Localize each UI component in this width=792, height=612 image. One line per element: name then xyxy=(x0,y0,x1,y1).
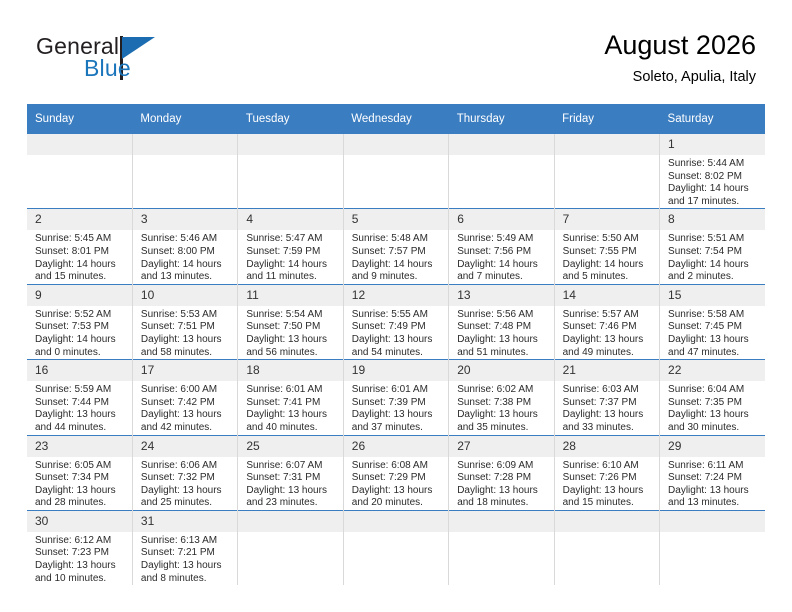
day-details: Sunrise: 5:57 AMSunset: 7:46 PMDaylight:… xyxy=(555,306,659,359)
day-details: Sunrise: 6:12 AMSunset: 7:23 PMDaylight:… xyxy=(27,532,132,585)
calendar-day-cell-empty xyxy=(238,510,343,585)
day-details: Sunrise: 5:47 AMSunset: 7:59 PMDaylight:… xyxy=(238,230,342,283)
day-number: 2 xyxy=(27,209,132,230)
day-number: 21 xyxy=(555,360,659,381)
day-detail-sunrise: Sunrise: 6:03 AM xyxy=(563,384,653,397)
day-detail-sunset: Sunset: 7:51 PM xyxy=(141,321,231,334)
day-detail-sunrise: Sunrise: 5:56 AM xyxy=(457,309,547,322)
day-detail-daylight-line1: Daylight: 13 hours xyxy=(141,485,231,498)
day-details xyxy=(133,155,237,208)
calendar-day-cell[interactable]: 26Sunrise: 6:08 AMSunset: 7:29 PMDayligh… xyxy=(343,435,448,510)
day-detail-sunrise: Sunrise: 5:50 AM xyxy=(563,233,653,246)
calendar-day-cell[interactable]: 8Sunrise: 5:51 AMSunset: 7:54 PMDaylight… xyxy=(660,209,765,284)
day-number: 20 xyxy=(449,360,553,381)
calendar-day-cell[interactable]: 6Sunrise: 5:49 AMSunset: 7:56 PMDaylight… xyxy=(449,209,554,284)
calendar-week-row: 30Sunrise: 6:12 AMSunset: 7:23 PMDayligh… xyxy=(27,510,765,585)
day-detail-sunrise: Sunrise: 5:58 AM xyxy=(668,309,759,322)
calendar-day-cell[interactable]: 4Sunrise: 5:47 AMSunset: 7:59 PMDaylight… xyxy=(238,209,343,284)
calendar-day-cell[interactable]: 28Sunrise: 6:10 AMSunset: 7:26 PMDayligh… xyxy=(554,435,659,510)
day-detail-sunrise: Sunrise: 6:07 AM xyxy=(246,460,336,473)
day-detail-daylight-line2: and 20 minutes. xyxy=(352,497,442,510)
calendar-day-cell[interactable]: 11Sunrise: 5:54 AMSunset: 7:50 PMDayligh… xyxy=(238,284,343,359)
calendar-day-cell[interactable]: 19Sunrise: 6:01 AMSunset: 7:39 PMDayligh… xyxy=(343,360,448,435)
calendar-week-row: 16Sunrise: 5:59 AMSunset: 7:44 PMDayligh… xyxy=(27,360,765,435)
day-number: 10 xyxy=(133,285,237,306)
day-detail-sunrise: Sunrise: 5:46 AM xyxy=(141,233,231,246)
day-number: 23 xyxy=(27,436,132,457)
weekday-header-row: Sunday Monday Tuesday Wednesday Thursday… xyxy=(27,104,765,134)
day-detail-daylight-line1: Daylight: 13 hours xyxy=(246,334,336,347)
day-detail-daylight-line1: Daylight: 14 hours xyxy=(352,259,442,272)
day-detail-daylight-line1: Daylight: 13 hours xyxy=(563,409,653,422)
calendar-day-cell[interactable]: 15Sunrise: 5:58 AMSunset: 7:45 PMDayligh… xyxy=(660,284,765,359)
day-detail-sunrise: Sunrise: 5:45 AM xyxy=(35,233,126,246)
day-detail-sunrise: Sunrise: 5:49 AM xyxy=(457,233,547,246)
day-detail-sunset: Sunset: 7:59 PM xyxy=(246,246,336,259)
day-details: Sunrise: 6:08 AMSunset: 7:29 PMDaylight:… xyxy=(344,457,448,510)
day-details xyxy=(27,155,132,208)
day-details: Sunrise: 6:03 AMSunset: 7:37 PMDaylight:… xyxy=(555,381,659,434)
day-number: 19 xyxy=(344,360,448,381)
day-detail-daylight-line2: and 49 minutes. xyxy=(563,347,653,360)
calendar-page: General Blue August 2026 Soleto, Apulia,… xyxy=(0,0,792,612)
day-detail-sunset: Sunset: 7:55 PM xyxy=(563,246,653,259)
day-detail-daylight-line1: Daylight: 13 hours xyxy=(457,334,547,347)
calendar-week-row: 23Sunrise: 6:05 AMSunset: 7:34 PMDayligh… xyxy=(27,435,765,510)
day-detail-sunrise: Sunrise: 5:54 AM xyxy=(246,309,336,322)
day-detail-sunrise: Sunrise: 6:01 AM xyxy=(352,384,442,397)
day-details: Sunrise: 5:55 AMSunset: 7:49 PMDaylight:… xyxy=(344,306,448,359)
day-detail-sunrise: Sunrise: 6:09 AM xyxy=(457,460,547,473)
calendar-day-cell[interactable]: 21Sunrise: 6:03 AMSunset: 7:37 PMDayligh… xyxy=(554,360,659,435)
day-detail-sunrise: Sunrise: 6:02 AM xyxy=(457,384,547,397)
day-number xyxy=(27,134,132,155)
calendar-day-cell[interactable]: 25Sunrise: 6:07 AMSunset: 7:31 PMDayligh… xyxy=(238,435,343,510)
day-detail-daylight-line1: Daylight: 14 hours xyxy=(246,259,336,272)
calendar-body: 1Sunrise: 5:44 AMSunset: 8:02 PMDaylight… xyxy=(27,134,765,585)
day-detail-daylight-line1: Daylight: 13 hours xyxy=(457,485,547,498)
calendar-day-cell[interactable]: 1Sunrise: 5:44 AMSunset: 8:02 PMDaylight… xyxy=(660,134,765,209)
day-detail-daylight-line1: Daylight: 13 hours xyxy=(35,485,126,498)
day-detail-sunrise: Sunrise: 5:48 AM xyxy=(352,233,442,246)
day-number: 13 xyxy=(449,285,553,306)
weekday-header-wednesday: Wednesday xyxy=(343,104,448,134)
weekday-header-saturday: Saturday xyxy=(660,104,765,134)
day-detail-sunset: Sunset: 7:56 PM xyxy=(457,246,547,259)
day-number xyxy=(449,511,553,532)
day-detail-daylight-line2: and 54 minutes. xyxy=(352,347,442,360)
day-detail-sunset: Sunset: 7:28 PM xyxy=(457,472,547,485)
day-detail-daylight-line2: and 8 minutes. xyxy=(141,573,231,586)
day-detail-daylight-line2: and 9 minutes. xyxy=(352,271,442,284)
day-number: 4 xyxy=(238,209,342,230)
day-details: Sunrise: 5:58 AMSunset: 7:45 PMDaylight:… xyxy=(660,306,765,359)
calendar-day-cell[interactable]: 27Sunrise: 6:09 AMSunset: 7:28 PMDayligh… xyxy=(449,435,554,510)
day-detail-sunrise: Sunrise: 6:10 AM xyxy=(563,460,653,473)
page-header: General Blue August 2026 Soleto, Apulia,… xyxy=(0,0,792,104)
calendar-day-cell[interactable]: 12Sunrise: 5:55 AMSunset: 7:49 PMDayligh… xyxy=(343,284,448,359)
day-detail-sunset: Sunset: 7:49 PM xyxy=(352,321,442,334)
day-detail-sunset: Sunset: 7:39 PM xyxy=(352,397,442,410)
day-detail-daylight-line1: Daylight: 13 hours xyxy=(668,485,759,498)
day-number xyxy=(238,134,342,155)
weekday-header-sunday: Sunday xyxy=(27,104,132,134)
day-detail-daylight-line1: Daylight: 14 hours xyxy=(35,259,126,272)
day-detail-sunset: Sunset: 7:42 PM xyxy=(141,397,231,410)
day-details: Sunrise: 5:44 AMSunset: 8:02 PMDaylight:… xyxy=(660,155,765,208)
day-detail-sunset: Sunset: 7:23 PM xyxy=(35,547,126,560)
day-detail-daylight-line2: and 17 minutes. xyxy=(668,196,759,209)
day-details: Sunrise: 6:09 AMSunset: 7:28 PMDaylight:… xyxy=(449,457,553,510)
day-detail-daylight-line1: Daylight: 14 hours xyxy=(563,259,653,272)
day-detail-sunset: Sunset: 7:34 PM xyxy=(35,472,126,485)
calendar-day-cell-empty xyxy=(132,134,237,209)
day-detail-sunset: Sunset: 7:53 PM xyxy=(35,321,126,334)
day-number: 17 xyxy=(133,360,237,381)
day-number xyxy=(238,511,342,532)
day-detail-daylight-line2: and 5 minutes. xyxy=(563,271,653,284)
day-detail-daylight-line2: and 51 minutes. xyxy=(457,347,547,360)
calendar-week-row: 1Sunrise: 5:44 AMSunset: 8:02 PMDaylight… xyxy=(27,134,765,209)
day-details: Sunrise: 5:53 AMSunset: 7:51 PMDaylight:… xyxy=(133,306,237,359)
day-details: Sunrise: 5:54 AMSunset: 7:50 PMDaylight:… xyxy=(238,306,342,359)
title-block: August 2026 Soleto, Apulia, Italy xyxy=(336,28,756,88)
day-detail-daylight-line2: and 23 minutes. xyxy=(246,497,336,510)
day-number: 6 xyxy=(449,209,553,230)
calendar-day-cell[interactable]: 17Sunrise: 6:00 AMSunset: 7:42 PMDayligh… xyxy=(132,360,237,435)
day-detail-sunrise: Sunrise: 6:11 AM xyxy=(668,460,759,473)
calendar-day-cell[interactable]: 3Sunrise: 5:46 AMSunset: 8:00 PMDaylight… xyxy=(132,209,237,284)
day-detail-daylight-line2: and 2 minutes. xyxy=(668,271,759,284)
day-detail-sunset: Sunset: 8:01 PM xyxy=(35,246,126,259)
calendar-day-cell-empty xyxy=(554,134,659,209)
calendar-day-cell-empty xyxy=(343,134,448,209)
day-details xyxy=(238,155,342,208)
day-detail-daylight-line2: and 30 minutes. xyxy=(668,422,759,435)
day-detail-daylight-line1: Daylight: 13 hours xyxy=(352,409,442,422)
day-detail-daylight-line2: and 11 minutes. xyxy=(246,271,336,284)
weekday-header-tuesday: Tuesday xyxy=(238,104,343,134)
day-number xyxy=(555,134,659,155)
day-detail-daylight-line1: Daylight: 13 hours xyxy=(246,485,336,498)
day-details: Sunrise: 6:02 AMSunset: 7:38 PMDaylight:… xyxy=(449,381,553,434)
day-details xyxy=(660,532,765,585)
calendar-day-cell-empty xyxy=(449,134,554,209)
calendar-day-cell[interactable]: 14Sunrise: 5:57 AMSunset: 7:46 PMDayligh… xyxy=(554,284,659,359)
day-number: 15 xyxy=(660,285,765,306)
day-number: 14 xyxy=(555,285,659,306)
day-number: 30 xyxy=(27,511,132,532)
day-detail-sunset: Sunset: 7:46 PM xyxy=(563,321,653,334)
day-detail-sunset: Sunset: 7:57 PM xyxy=(352,246,442,259)
day-number: 22 xyxy=(660,360,765,381)
day-detail-daylight-line1: Daylight: 13 hours xyxy=(141,334,231,347)
day-detail-sunset: Sunset: 7:35 PM xyxy=(668,397,759,410)
calendar-day-cell[interactable]: 10Sunrise: 5:53 AMSunset: 7:51 PMDayligh… xyxy=(132,284,237,359)
calendar-day-cell[interactable]: 7Sunrise: 5:50 AMSunset: 7:55 PMDaylight… xyxy=(554,209,659,284)
day-detail-daylight-line2: and 47 minutes. xyxy=(668,347,759,360)
calendar-day-cell[interactable]: 23Sunrise: 6:05 AMSunset: 7:34 PMDayligh… xyxy=(27,435,132,510)
day-details: Sunrise: 5:59 AMSunset: 7:44 PMDaylight:… xyxy=(27,381,132,434)
calendar-day-cell[interactable]: 5Sunrise: 5:48 AMSunset: 7:57 PMDaylight… xyxy=(343,209,448,284)
day-details: Sunrise: 5:46 AMSunset: 8:00 PMDaylight:… xyxy=(133,230,237,283)
day-detail-sunrise: Sunrise: 6:04 AM xyxy=(668,384,759,397)
day-number: 31 xyxy=(133,511,237,532)
calendar-day-cell[interactable]: 18Sunrise: 6:01 AMSunset: 7:41 PMDayligh… xyxy=(238,360,343,435)
day-number: 28 xyxy=(555,436,659,457)
day-detail-sunrise: Sunrise: 5:51 AM xyxy=(668,233,759,246)
day-details: Sunrise: 6:06 AMSunset: 7:32 PMDaylight:… xyxy=(133,457,237,510)
day-detail-daylight-line2: and 25 minutes. xyxy=(141,497,231,510)
calendar-day-cell[interactable]: 16Sunrise: 5:59 AMSunset: 7:44 PMDayligh… xyxy=(27,360,132,435)
day-detail-sunset: Sunset: 7:29 PM xyxy=(352,472,442,485)
day-detail-daylight-line2: and 40 minutes. xyxy=(246,422,336,435)
day-detail-sunset: Sunset: 7:26 PM xyxy=(563,472,653,485)
day-detail-sunset: Sunset: 7:24 PM xyxy=(668,472,759,485)
day-details: Sunrise: 5:48 AMSunset: 7:57 PMDaylight:… xyxy=(344,230,448,283)
page-subtitle: Soleto, Apulia, Italy xyxy=(336,66,756,88)
day-details xyxy=(555,532,659,585)
day-detail-daylight-line2: and 37 minutes. xyxy=(352,422,442,435)
day-detail-sunrise: Sunrise: 5:52 AM xyxy=(35,309,126,322)
day-details: Sunrise: 6:00 AMSunset: 7:42 PMDaylight:… xyxy=(133,381,237,434)
calendar-day-cell[interactable]: 24Sunrise: 6:06 AMSunset: 7:32 PMDayligh… xyxy=(132,435,237,510)
day-number: 3 xyxy=(133,209,237,230)
calendar-day-cell[interactable]: 22Sunrise: 6:04 AMSunset: 7:35 PMDayligh… xyxy=(660,360,765,435)
day-number: 12 xyxy=(344,285,448,306)
day-number: 1 xyxy=(660,134,765,155)
calendar-day-cell-empty xyxy=(554,510,659,585)
day-detail-sunset: Sunset: 7:38 PM xyxy=(457,397,547,410)
calendar-day-cell[interactable]: 13Sunrise: 5:56 AMSunset: 7:48 PMDayligh… xyxy=(449,284,554,359)
day-details: Sunrise: 5:49 AMSunset: 7:56 PMDaylight:… xyxy=(449,230,553,283)
day-number: 7 xyxy=(555,209,659,230)
day-detail-daylight-line1: Daylight: 14 hours xyxy=(141,259,231,272)
day-detail-sunset: Sunset: 7:41 PM xyxy=(246,397,336,410)
day-detail-daylight-line2: and 42 minutes. xyxy=(141,422,231,435)
day-detail-daylight-line2: and 7 minutes. xyxy=(457,271,547,284)
day-detail-sunset: Sunset: 7:45 PM xyxy=(668,321,759,334)
day-detail-daylight-line2: and 0 minutes. xyxy=(35,347,126,360)
day-detail-daylight-line1: Daylight: 13 hours xyxy=(352,485,442,498)
day-detail-daylight-line2: and 10 minutes. xyxy=(35,573,126,586)
day-details xyxy=(449,155,553,208)
day-details: Sunrise: 6:07 AMSunset: 7:31 PMDaylight:… xyxy=(238,457,342,510)
day-details: Sunrise: 6:05 AMSunset: 7:34 PMDaylight:… xyxy=(27,457,132,510)
day-detail-sunrise: Sunrise: 5:44 AM xyxy=(668,158,759,171)
day-details: Sunrise: 6:01 AMSunset: 7:39 PMDaylight:… xyxy=(344,381,448,434)
day-details: Sunrise: 5:45 AMSunset: 8:01 PMDaylight:… xyxy=(27,230,132,283)
day-detail-sunrise: Sunrise: 6:05 AM xyxy=(35,460,126,473)
day-number xyxy=(660,511,765,532)
day-detail-sunset: Sunset: 7:31 PM xyxy=(246,472,336,485)
day-detail-sunrise: Sunrise: 6:13 AM xyxy=(141,535,231,548)
day-detail-daylight-line2: and 28 minutes. xyxy=(35,497,126,510)
day-details xyxy=(344,155,448,208)
day-detail-sunrise: Sunrise: 5:59 AM xyxy=(35,384,126,397)
day-detail-sunrise: Sunrise: 6:01 AM xyxy=(246,384,336,397)
day-detail-sunrise: Sunrise: 6:12 AM xyxy=(35,535,126,548)
calendar-day-cell[interactable]: 9Sunrise: 5:52 AMSunset: 7:53 PMDaylight… xyxy=(27,284,132,359)
day-detail-sunset: Sunset: 8:02 PM xyxy=(668,171,759,184)
day-number xyxy=(555,511,659,532)
day-details: Sunrise: 5:50 AMSunset: 7:55 PMDaylight:… xyxy=(555,230,659,283)
day-number: 5 xyxy=(344,209,448,230)
day-detail-sunrise: Sunrise: 6:08 AM xyxy=(352,460,442,473)
day-detail-daylight-line1: Daylight: 13 hours xyxy=(563,485,653,498)
day-number xyxy=(133,134,237,155)
day-detail-daylight-line1: Daylight: 13 hours xyxy=(141,560,231,573)
day-detail-sunset: Sunset: 7:48 PM xyxy=(457,321,547,334)
day-number: 11 xyxy=(238,285,342,306)
day-number: 8 xyxy=(660,209,765,230)
day-detail-sunset: Sunset: 7:54 PM xyxy=(668,246,759,259)
day-details: Sunrise: 5:51 AMSunset: 7:54 PMDaylight:… xyxy=(660,230,765,283)
page-title: August 2026 xyxy=(336,28,756,62)
calendar-day-cell-empty xyxy=(238,134,343,209)
day-details xyxy=(238,532,342,585)
calendar-day-cell[interactable]: 29Sunrise: 6:11 AMSunset: 7:24 PMDayligh… xyxy=(660,435,765,510)
day-details: Sunrise: 6:11 AMSunset: 7:24 PMDaylight:… xyxy=(660,457,765,510)
day-details xyxy=(555,155,659,208)
day-number: 9 xyxy=(27,285,132,306)
day-detail-daylight-line1: Daylight: 13 hours xyxy=(352,334,442,347)
calendar-week-row: 9Sunrise: 5:52 AMSunset: 7:53 PMDaylight… xyxy=(27,284,765,359)
day-detail-sunset: Sunset: 7:37 PM xyxy=(563,397,653,410)
day-detail-sunrise: Sunrise: 6:00 AM xyxy=(141,384,231,397)
day-detail-daylight-line1: Daylight: 13 hours xyxy=(668,409,759,422)
calendar-day-cell-empty xyxy=(343,510,448,585)
calendar-day-cell-empty xyxy=(449,510,554,585)
calendar-day-cell[interactable]: 2Sunrise: 5:45 AMSunset: 8:01 PMDaylight… xyxy=(27,209,132,284)
day-details: Sunrise: 5:56 AMSunset: 7:48 PMDaylight:… xyxy=(449,306,553,359)
weekday-header-thursday: Thursday xyxy=(449,104,554,134)
day-number: 24 xyxy=(133,436,237,457)
day-number: 29 xyxy=(660,436,765,457)
logo-text-blue: Blue xyxy=(84,55,131,81)
weekday-header-monday: Monday xyxy=(132,104,237,134)
day-number: 18 xyxy=(238,360,342,381)
day-detail-daylight-line1: Daylight: 14 hours xyxy=(35,334,126,347)
day-detail-sunset: Sunset: 7:32 PM xyxy=(141,472,231,485)
calendar-week-row: 2Sunrise: 5:45 AMSunset: 8:01 PMDaylight… xyxy=(27,209,765,284)
day-detail-daylight-line1: Daylight: 14 hours xyxy=(668,183,759,196)
day-detail-daylight-line2: and 33 minutes. xyxy=(563,422,653,435)
general-blue-logo[interactable]: General Blue xyxy=(36,33,246,89)
day-number: 27 xyxy=(449,436,553,457)
day-details: Sunrise: 6:01 AMSunset: 7:41 PMDaylight:… xyxy=(238,381,342,434)
day-detail-daylight-line2: and 13 minutes. xyxy=(668,497,759,510)
day-details: Sunrise: 5:52 AMSunset: 7:53 PMDaylight:… xyxy=(27,306,132,359)
day-detail-sunset: Sunset: 7:44 PM xyxy=(35,397,126,410)
day-number: 25 xyxy=(238,436,342,457)
day-detail-sunset: Sunset: 7:50 PM xyxy=(246,321,336,334)
day-detail-sunset: Sunset: 8:00 PM xyxy=(141,246,231,259)
day-detail-sunrise: Sunrise: 5:47 AM xyxy=(246,233,336,246)
day-detail-daylight-line2: and 15 minutes. xyxy=(35,271,126,284)
day-number xyxy=(344,134,448,155)
day-detail-daylight-line2: and 13 minutes. xyxy=(141,271,231,284)
day-detail-sunrise: Sunrise: 6:06 AM xyxy=(141,460,231,473)
day-detail-daylight-line2: and 44 minutes. xyxy=(35,422,126,435)
day-details: Sunrise: 6:13 AMSunset: 7:21 PMDaylight:… xyxy=(133,532,237,585)
day-detail-daylight-line1: Daylight: 13 hours xyxy=(35,560,126,573)
day-number: 16 xyxy=(27,360,132,381)
calendar-day-cell[interactable]: 31Sunrise: 6:13 AMSunset: 7:21 PMDayligh… xyxy=(132,510,237,585)
weekday-header-friday: Friday xyxy=(554,104,659,134)
day-detail-daylight-line2: and 15 minutes. xyxy=(563,497,653,510)
day-detail-sunrise: Sunrise: 5:55 AM xyxy=(352,309,442,322)
day-detail-daylight-line1: Daylight: 13 hours xyxy=(457,409,547,422)
day-detail-sunrise: Sunrise: 5:53 AM xyxy=(141,309,231,322)
day-number xyxy=(449,134,553,155)
day-detail-daylight-line2: and 58 minutes. xyxy=(141,347,231,360)
day-number xyxy=(344,511,448,532)
day-detail-daylight-line1: Daylight: 13 hours xyxy=(35,409,126,422)
day-detail-daylight-line1: Daylight: 13 hours xyxy=(246,409,336,422)
calendar-grid: Sunday Monday Tuesday Wednesday Thursday… xyxy=(27,104,765,585)
calendar-day-cell-empty xyxy=(27,134,132,209)
day-details: Sunrise: 6:04 AMSunset: 7:35 PMDaylight:… xyxy=(660,381,765,434)
calendar-day-cell[interactable]: 30Sunrise: 6:12 AMSunset: 7:23 PMDayligh… xyxy=(27,510,132,585)
calendar-day-cell-empty xyxy=(660,510,765,585)
day-detail-daylight-line2: and 35 minutes. xyxy=(457,422,547,435)
calendar-day-cell[interactable]: 20Sunrise: 6:02 AMSunset: 7:38 PMDayligh… xyxy=(449,360,554,435)
day-detail-daylight-line2: and 18 minutes. xyxy=(457,497,547,510)
day-details xyxy=(449,532,553,585)
day-detail-sunset: Sunset: 7:21 PM xyxy=(141,547,231,560)
day-detail-daylight-line1: Daylight: 13 hours xyxy=(563,334,653,347)
day-detail-daylight-line1: Daylight: 13 hours xyxy=(141,409,231,422)
day-detail-sunrise: Sunrise: 5:57 AM xyxy=(563,309,653,322)
day-details xyxy=(344,532,448,585)
day-details: Sunrise: 6:10 AMSunset: 7:26 PMDaylight:… xyxy=(555,457,659,510)
day-detail-daylight-line2: and 56 minutes. xyxy=(246,347,336,360)
day-number: 26 xyxy=(344,436,448,457)
day-detail-daylight-line1: Daylight: 13 hours xyxy=(668,334,759,347)
day-detail-daylight-line1: Daylight: 14 hours xyxy=(668,259,759,272)
day-detail-daylight-line1: Daylight: 14 hours xyxy=(457,259,547,272)
